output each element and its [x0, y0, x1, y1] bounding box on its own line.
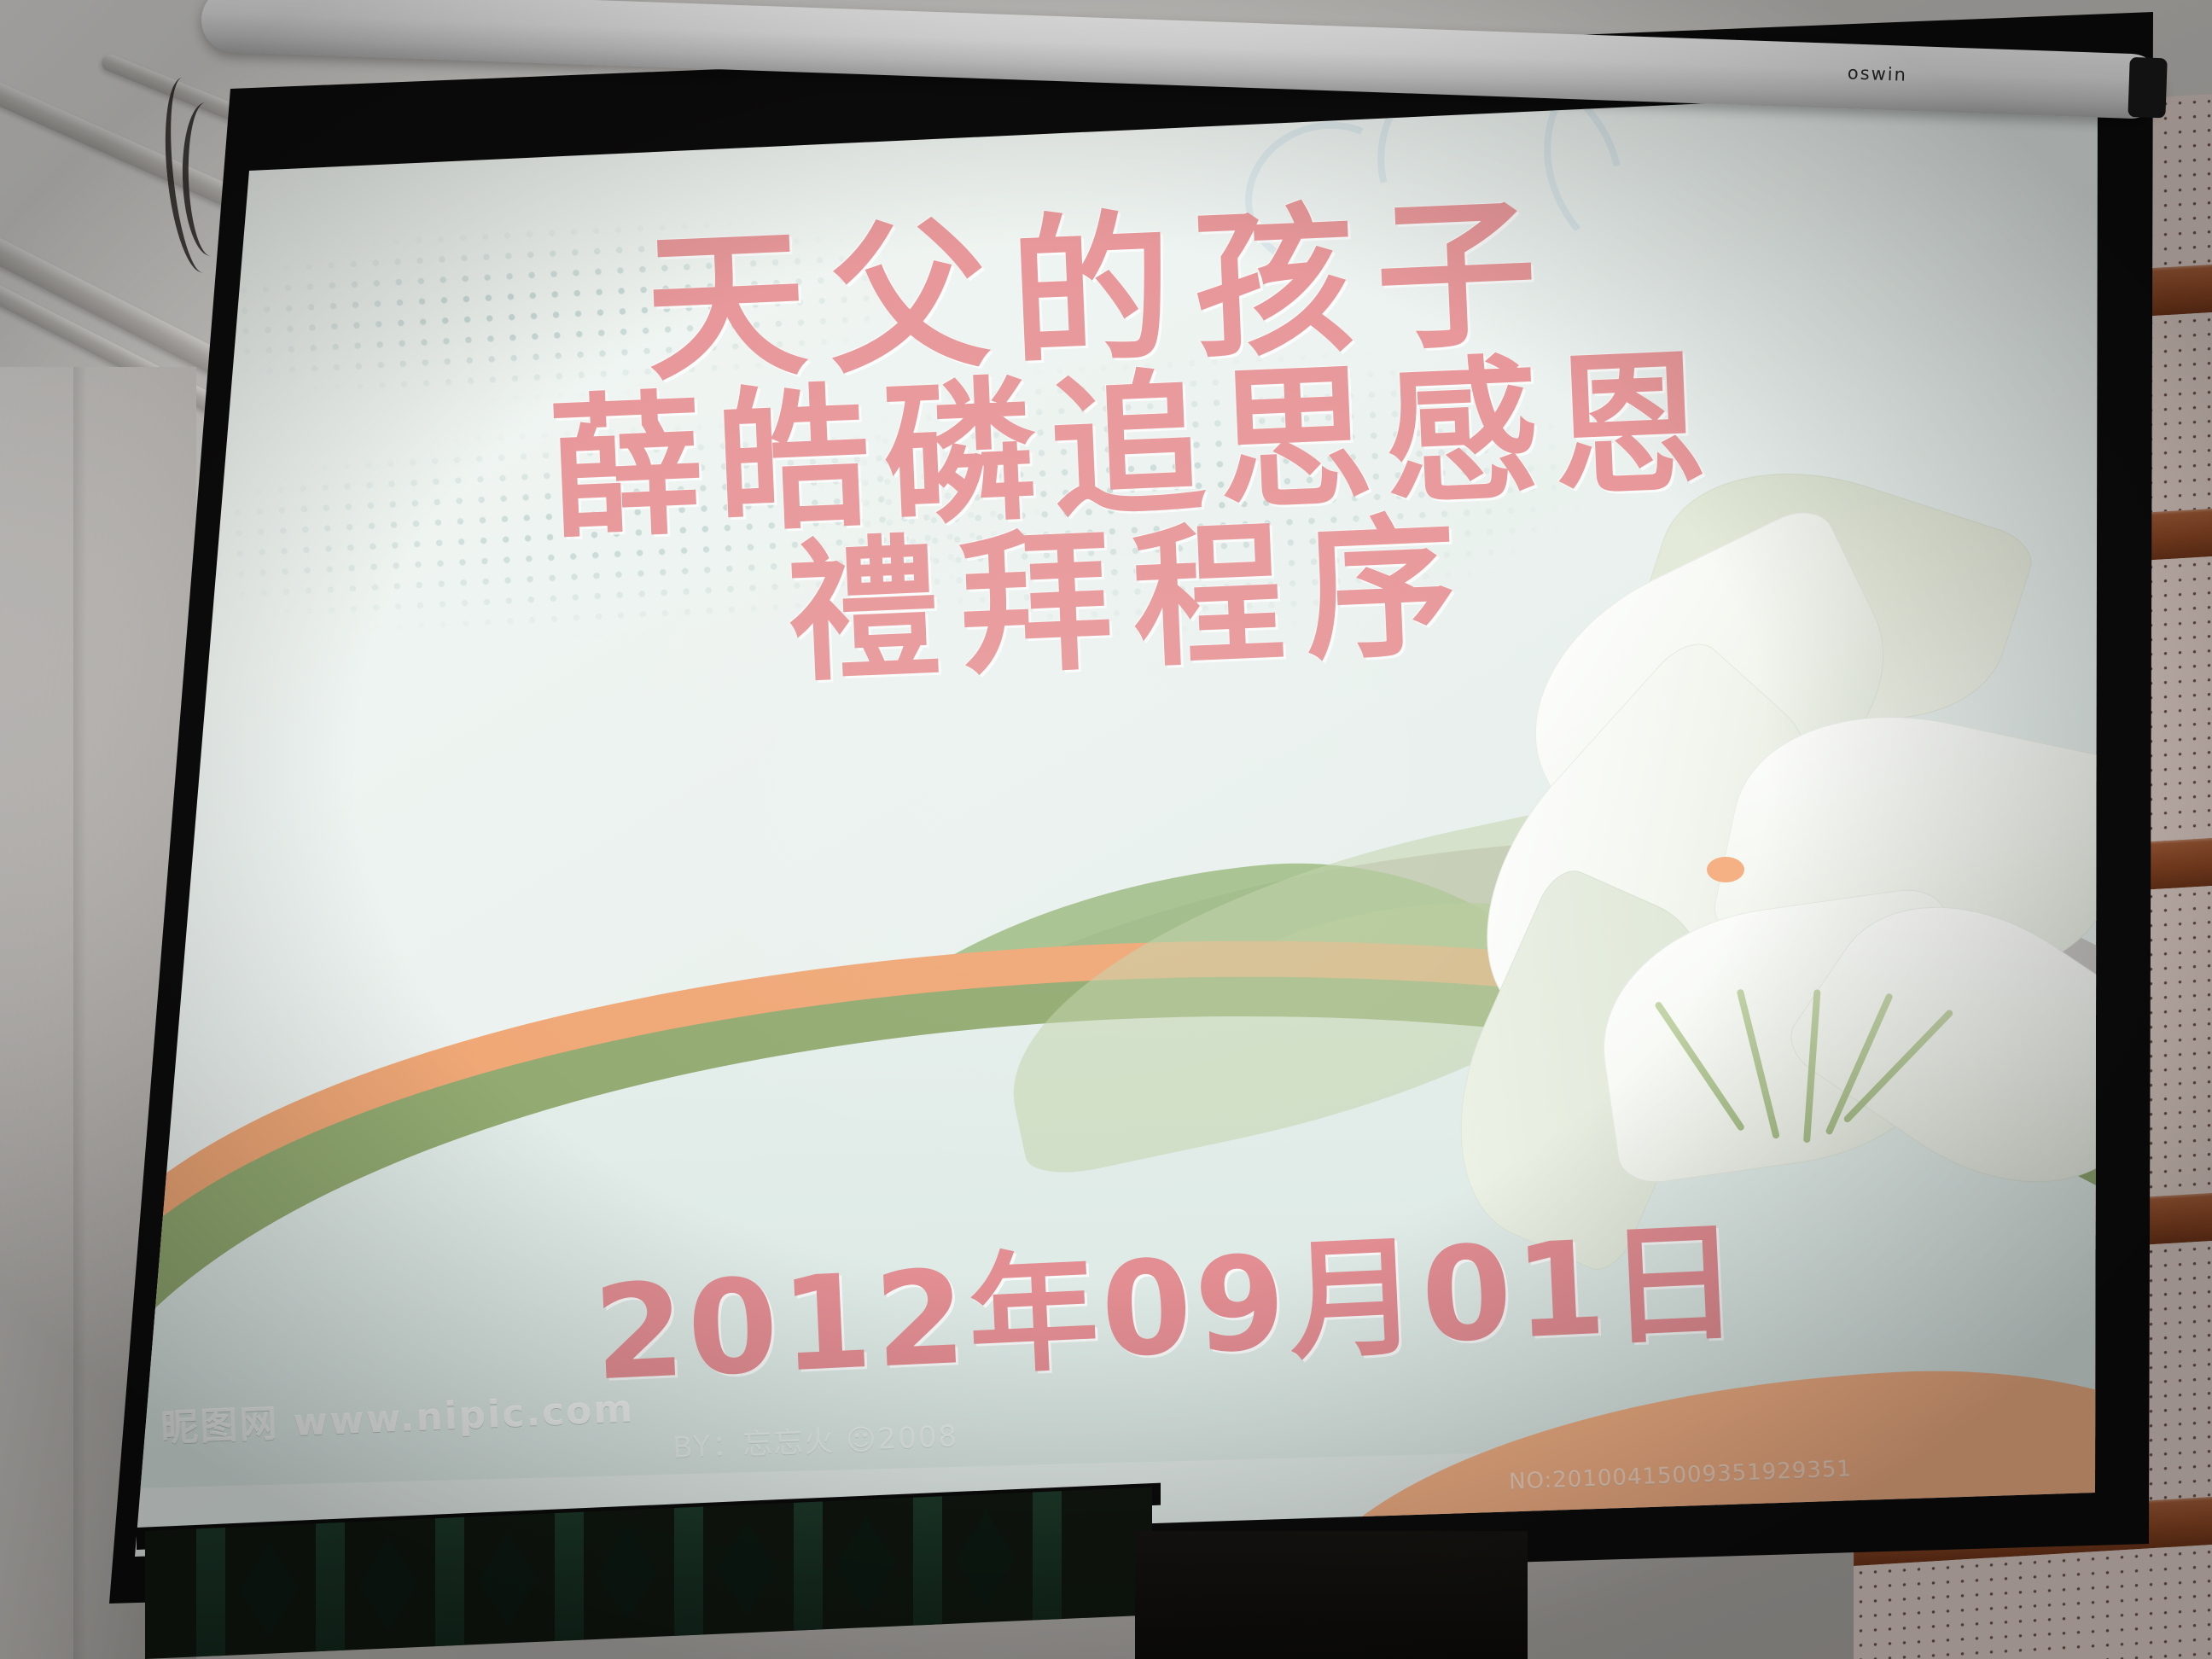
- pillar-edge-shadow: [73, 367, 87, 1659]
- lower-wall-shadow: [1135, 1531, 1528, 1659]
- room-background: 天父的孩子 薛皓磷追思感恩 禮拜程序 2012年09月01日 昵图网 www.n…: [0, 0, 2212, 1659]
- projected-slide: 天父的孩子 薛皓磷追思感恩 禮拜程序 2012年09月01日 昵图网 www.n…: [109, 12, 2157, 1659]
- roller-end-cap: [2128, 57, 2167, 118]
- screen-brand-label: oswin: [1847, 62, 1907, 84]
- lily-anther: [1707, 857, 1744, 882]
